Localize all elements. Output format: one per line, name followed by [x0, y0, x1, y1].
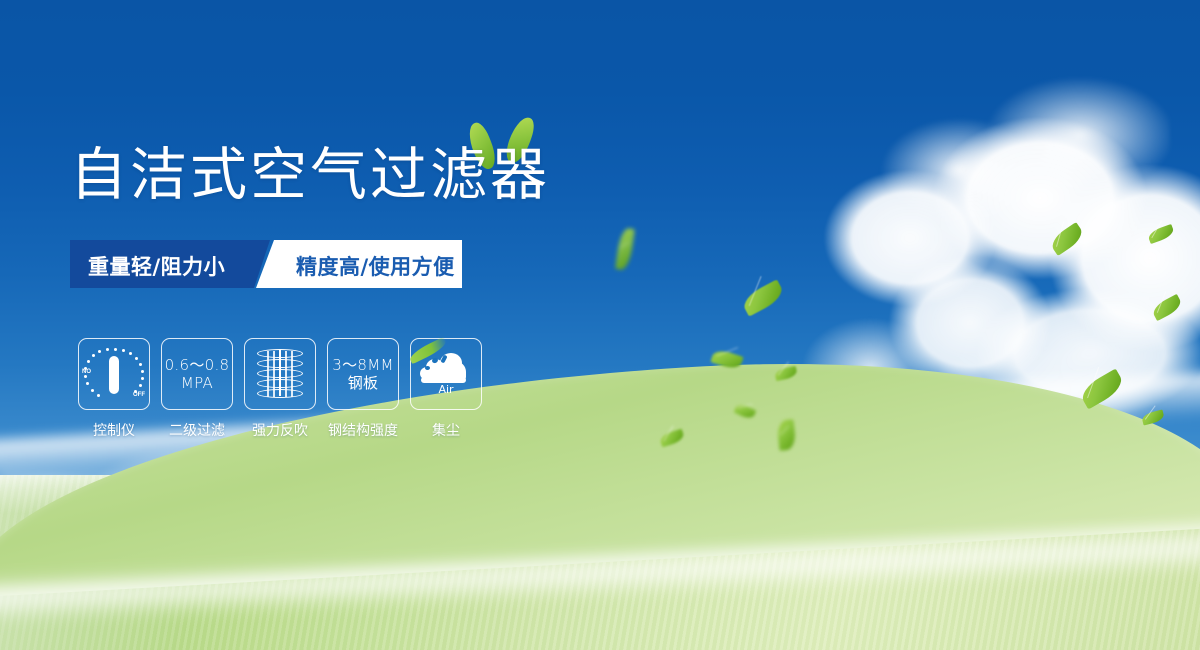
feature-item-steel[interactable]: 3～8MM 钢板 钢结构强度 — [327, 338, 399, 440]
feature-list: NO OFF 控制仪 0.6～0.8 MPA 二级过滤 — [78, 338, 482, 440]
steel-thickness: 3～8MM — [332, 356, 393, 374]
gauge-icon: NO OFF — [84, 346, 144, 402]
cloud-upper-right — [850, 60, 1170, 250]
subtitle-left-text: 重量轻/阻力小 — [88, 251, 225, 281]
gauge-label-off: OFF — [133, 392, 145, 398]
page-title: 自洁式空气过滤器 — [70, 143, 550, 207]
subtitle-bar: 重量轻/阻力小 精度高/使用方便 — [70, 240, 462, 288]
pressure-range: 0.6～0.8 — [165, 356, 230, 374]
subtitle-right-text: 精度高/使用方便 — [296, 251, 455, 281]
feature-label: 二级过滤 — [169, 420, 225, 440]
feature-item-controller[interactable]: NO OFF 控制仪 — [78, 338, 150, 440]
air-label: Air — [418, 383, 474, 396]
gauge-label-no: NO — [82, 369, 91, 375]
pressure-unit: MPA — [165, 374, 230, 392]
feature-icon-box: Air — [410, 338, 482, 410]
feature-icon-box: NO OFF — [78, 338, 150, 410]
feature-item-dust[interactable]: Air 集尘 — [410, 338, 482, 440]
subtitle-right-panel: 精度高/使用方便 — [256, 240, 462, 288]
leaf-icon — [1048, 222, 1086, 256]
feature-icon-box: 3～8MM 钢板 — [327, 338, 399, 410]
feature-icon-box — [244, 338, 316, 410]
feature-label: 钢结构强度 — [328, 420, 398, 440]
feature-label: 强力反吹 — [252, 420, 308, 440]
leaf-icon — [740, 279, 786, 316]
feature-icon-box: 0.6～0.8 MPA — [161, 338, 233, 410]
subtitle-left-panel: 重量轻/阻力小 — [70, 240, 270, 288]
coil-icon — [257, 348, 303, 400]
feature-item-filter[interactable]: 0.6～0.8 MPA 二级过滤 — [161, 338, 233, 440]
steel-text-icon: 3～8MM 钢板 — [332, 356, 393, 392]
leaf-icon — [615, 227, 635, 271]
leaf-icon — [1147, 224, 1176, 244]
gauge-needle — [109, 356, 119, 394]
feature-item-blowback[interactable]: 强力反吹 — [244, 338, 316, 440]
leaf-icon — [1150, 294, 1184, 321]
steel-material: 钢板 — [332, 374, 393, 392]
feature-label: 控制仪 — [93, 420, 135, 440]
product-banner: 自洁式空气过滤器 重量轻/阻力小 精度高/使用方便 — [0, 0, 1200, 650]
cloud-air-icon: Air — [418, 349, 474, 399]
feature-label: 集尘 — [432, 420, 460, 440]
pressure-text-icon: 0.6～0.8 MPA — [165, 356, 230, 392]
